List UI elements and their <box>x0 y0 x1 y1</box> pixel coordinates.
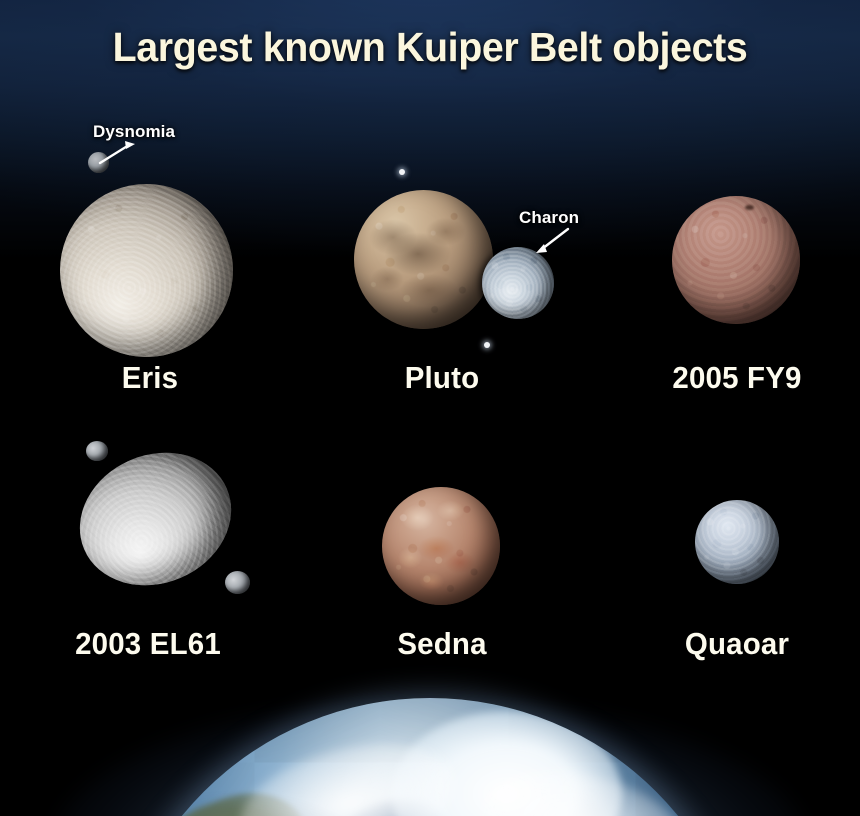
earth-scale-reference <box>0 640 860 816</box>
pluto-surface-texture <box>354 190 493 329</box>
object-pluto <box>354 190 493 329</box>
kuiper-belt-diagram: Largest known Kuiper Belt objects Dysnom… <box>0 0 860 816</box>
quaoar-surface-texture <box>695 500 779 584</box>
object-2005-fy9 <box>672 196 800 324</box>
moon-label-dysnomia: Dysnomia <box>93 122 175 142</box>
page-title: Largest known Kuiper Belt objects <box>17 24 843 71</box>
object-sedna <box>382 487 500 605</box>
moon-dot-hydra <box>484 342 490 348</box>
moon-el61-namaka <box>86 441 108 461</box>
charon-surface-texture <box>482 247 554 319</box>
object-eris <box>60 184 233 357</box>
eris-surface-texture <box>60 184 233 357</box>
moon-dysnomia <box>88 152 109 173</box>
object-label-eris: Eris <box>36 360 264 396</box>
moon-el61-hiiaka <box>225 571 250 594</box>
object-label-2005-fy9: 2005 FY9 <box>623 360 851 396</box>
moon-label-charon: Charon <box>519 208 579 228</box>
object-label-pluto: Pluto <box>328 360 556 396</box>
moon-charon <box>482 247 554 319</box>
sedna-surface-texture <box>382 487 500 605</box>
fy9-dark-spot <box>745 205 754 210</box>
object-quaoar <box>695 500 779 584</box>
fy9-surface-texture <box>672 196 800 324</box>
moon-dot-nix <box>399 169 405 175</box>
